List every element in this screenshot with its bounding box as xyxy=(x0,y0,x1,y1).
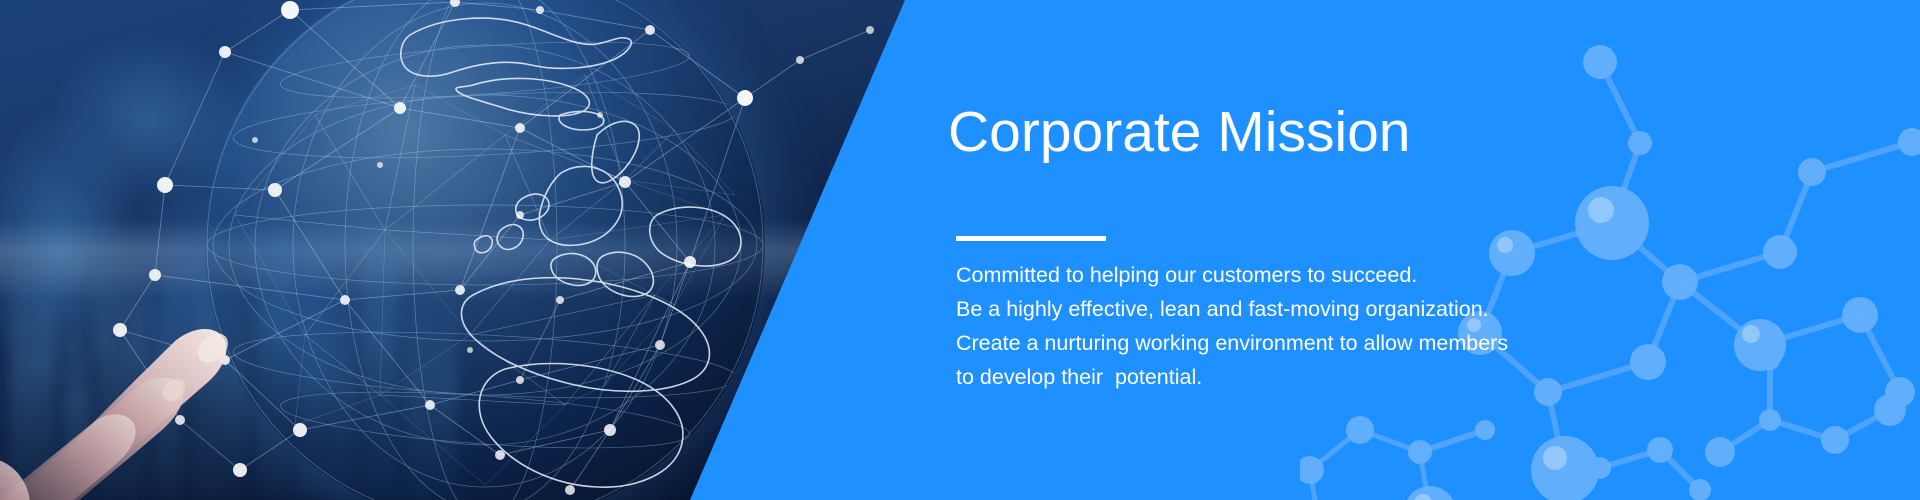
corporate-mission-banner: Corporate Mission Committed to helping o… xyxy=(0,0,1920,500)
mission-statement-line: Create a nurturing working environment t… xyxy=(956,326,1508,360)
hand-reaching-illustration xyxy=(0,240,380,500)
mission-statement-list: Committed to helping our customers to su… xyxy=(956,258,1508,394)
mission-statement-line: Be a highly effective, lean and fast-mov… xyxy=(956,292,1508,326)
mission-statement-line: Committed to helping our customers to su… xyxy=(956,258,1508,292)
mission-statement-line: to develop their potential. xyxy=(956,360,1508,394)
mission-content: Corporate Mission Committed to helping o… xyxy=(948,0,1648,500)
hero-image-panel xyxy=(0,0,960,500)
page-title: Corporate Mission xyxy=(948,98,1411,166)
title-divider-rule xyxy=(956,236,1106,241)
